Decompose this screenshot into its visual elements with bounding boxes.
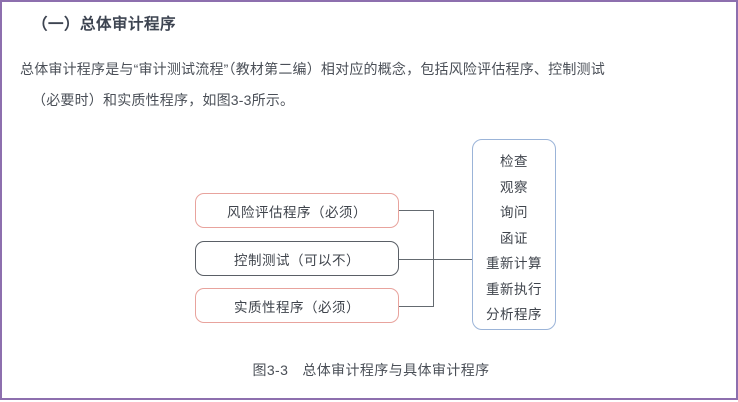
- specific-procedure-item: 重新执行: [486, 277, 542, 303]
- overall-procedure-label: 风险评估程序（必须）: [227, 201, 367, 221]
- overall-procedure-box-control-testing: 控制测试（可以不）: [195, 241, 399, 276]
- figure-number: 图3-3: [252, 362, 288, 378]
- overall-procedure-box-risk-assessment: 风险评估程序（必须）: [195, 193, 399, 228]
- specific-procedure-item: 分析程序: [486, 302, 542, 328]
- specific-procedure-item: 检查: [500, 149, 528, 175]
- connector-line-control-testing: [399, 259, 434, 260]
- overall-procedure-box-substantive: 实质性程序（必须）: [195, 288, 399, 323]
- overall-procedure-label: 实质性程序（必须）: [234, 296, 360, 316]
- figure-title: 总体审计程序与具体审计程序: [302, 362, 489, 378]
- connector-line-to-specific-procedures: [433, 259, 472, 260]
- paragraph-line-1: 总体审计程序是与“审计测试流程”（教材第二编）相对应的概念，包括风险评估程序、控…: [20, 54, 726, 85]
- section-heading: （一）总体审计程序: [32, 12, 176, 34]
- connector-line-substantive: [399, 306, 434, 307]
- body-paragraph: 总体审计程序是与“审计测试流程”（教材第二编）相对应的概念，包括风险评估程序、控…: [20, 54, 726, 116]
- specific-procedure-item: 函证: [500, 226, 528, 252]
- specific-procedures-panel: 检查 观察 询问 函证 重新计算 重新执行 分析程序: [472, 139, 556, 330]
- paragraph-line-2: （必要时）和实质性程序，如图3-3所示。: [20, 85, 726, 116]
- overall-procedure-label: 控制测试（可以不）: [234, 249, 360, 269]
- connector-line-risk-assessment: [399, 210, 434, 211]
- document-page: （一）总体审计程序 总体审计程序是与“审计测试流程”（教材第二编）相对应的概念，…: [0, 0, 738, 400]
- specific-procedure-item: 观察: [500, 175, 528, 201]
- figure-caption: 图3-3总体审计程序与具体审计程序: [2, 360, 738, 380]
- specific-procedure-item: 询问: [500, 200, 528, 226]
- specific-procedure-item: 重新计算: [486, 251, 542, 277]
